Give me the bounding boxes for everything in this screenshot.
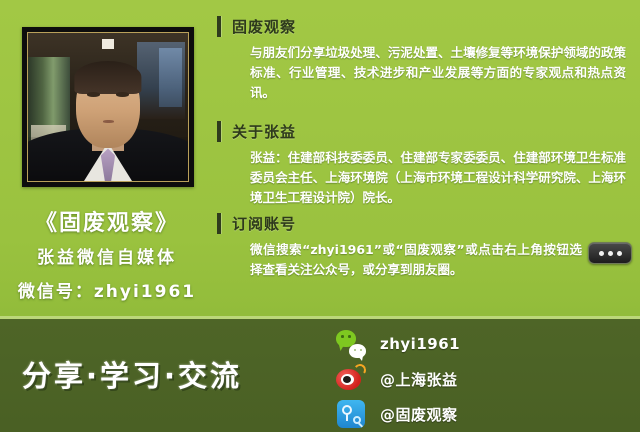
section-body: 与朋友们分享垃圾处理、污泥处置、土壤修复等环境保护领域的政策标准、行业管理、技术… [214,43,640,103]
section-about-account: 固废观察 与朋友们分享垃圾处理、污泥处置、土壤修复等环境保护领域的政策标准、行业… [214,13,640,103]
section-heading: 订阅账号 [214,210,640,236]
section-heading: 关于张益 [214,118,640,144]
section-body: 微信搜索“zhyi1961”或“固废观察”或点击右上角按钮选择查看关注公众号，或… [214,240,640,280]
section-title: 订阅账号 [232,213,296,234]
brand-title: 《固废观察》 [0,205,214,237]
social-links: zhyi1961 @上海张益 @固废观察 [336,329,460,429]
heading-bar-icon [217,121,221,142]
portrait-frame [22,27,194,187]
heading-bar-icon [217,213,221,234]
tencent-search-icon [336,399,366,429]
social-row-weibo[interactable]: @上海张益 [336,364,460,394]
promo-card: 《固废观察》 张益微信自媒体 微信号：zhyi1961 固废观察 与朋友们分享垃… [0,0,640,432]
section-title: 关于张益 [232,121,296,142]
right-column: 固废观察 与朋友们分享垃圾处理、污泥处置、土壤修复等环境保护领域的政策标准、行业… [214,0,640,316]
portrait-photo [27,32,189,182]
more-options-button[interactable] [588,242,632,264]
social-row-wechat[interactable]: zhyi1961 [336,329,460,359]
dot-icon [599,251,604,256]
social-label-tencent: @固废观察 [380,404,458,425]
social-label-weibo: @上海张益 [380,369,458,390]
dot-icon [617,251,622,256]
footer-slogan: 分享·学习·交流 [22,353,242,395]
weibo-icon [336,364,366,394]
social-row-tencent[interactable]: @固废观察 [336,399,460,429]
section-body: 张益：住建部科技委委员、住建部专家委委员、住建部环境卫生标准委员会主任、上海环境… [214,148,640,208]
heading-bar-icon [217,16,221,37]
footer: 分享·学习·交流 zhyi1961 @上海张益 [0,319,640,432]
section-subscribe: 订阅账号 微信搜索“zhyi1961”或“固废观察”或点击右上角按钮选择查看关注… [214,210,640,280]
dot-icon [608,251,613,256]
brand-wechat-id: 微信号：zhyi1961 [0,277,214,302]
section-about-author: 关于张益 张益：住建部科技委委员、住建部专家委委员、住建部环境卫生标准委员会主任… [214,118,640,208]
brand-subtitle: 张益微信自媒体 [0,243,214,268]
section-heading: 固废观察 [214,13,640,39]
social-label-wechat: zhyi1961 [380,335,460,353]
wechat-icon [336,329,366,359]
section-title: 固废观察 [232,16,296,37]
left-column: 《固废观察》 张益微信自媒体 微信号：zhyi1961 [0,0,214,316]
